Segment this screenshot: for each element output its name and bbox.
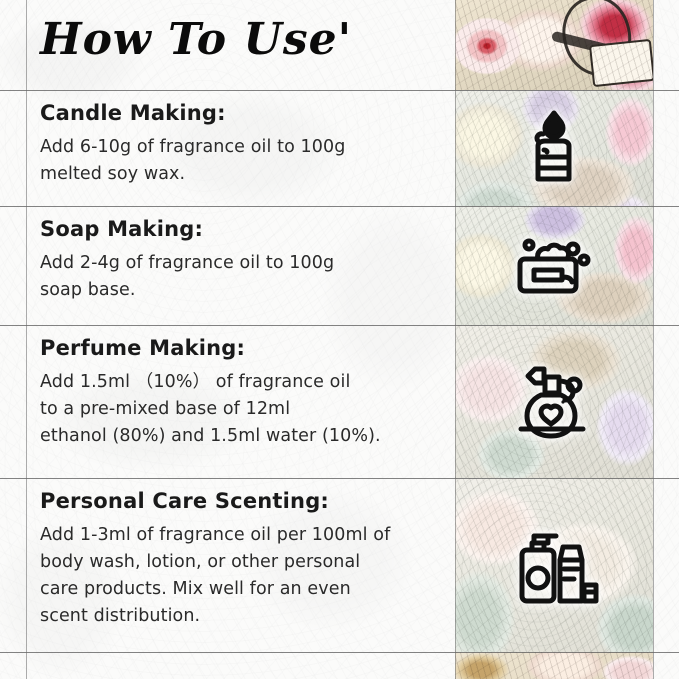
divider-rule <box>0 325 679 326</box>
candle-icon <box>455 90 653 206</box>
left-margin-rule <box>26 0 27 679</box>
section-heading: Soap Making: <box>40 217 430 241</box>
rose-illustration-bottom <box>455 652 653 679</box>
twine-strand-decoration <box>551 31 629 60</box>
section-body: Add 6-10g of fragrance oil to 100g melte… <box>40 134 430 188</box>
paper-tag-decoration <box>589 39 653 87</box>
divider-rule <box>0 206 679 207</box>
section-heading: Personal Care Scenting: <box>40 489 430 513</box>
section-body: Add 2-4g of fragrance oil to 100g soap b… <box>40 250 430 304</box>
illustration-cell-personal-care <box>455 478 653 652</box>
section-heading: Perfume Making: <box>40 336 430 360</box>
section-heading: Candle Making: <box>40 101 430 125</box>
section-perfume-making: Perfume Making: Add 1.5ml （10%） of fragr… <box>40 336 430 450</box>
divider-rule <box>0 478 679 479</box>
illustration-cell-candle <box>455 90 653 206</box>
right-margin-rule <box>653 0 654 679</box>
section-soap-making: Soap Making: Add 2-4g of fragrance oil t… <box>40 217 430 304</box>
illustration-column <box>455 0 653 679</box>
illustration-cell-perfume <box>455 325 653 478</box>
section-body: Add 1.5ml （10%） of fragrance oil to a pr… <box>40 369 430 450</box>
soap-bar-icon <box>455 206 653 325</box>
how-to-use-infographic: How To Use' Candle Making: Add 6-10g of … <box>0 0 679 679</box>
personal-care-products-icon <box>455 478 653 652</box>
perfume-bottle-icon <box>455 325 653 478</box>
page-title: How To Use' <box>40 14 352 65</box>
column-divider-rule <box>455 0 456 679</box>
illustration-cell-soap <box>455 206 653 325</box>
section-personal-care-scenting: Personal Care Scenting: Add 1-3ml of fra… <box>40 489 430 631</box>
twine-loop-decoration <box>552 0 641 85</box>
section-candle-making: Candle Making: Add 6-10g of fragrance oi… <box>40 101 430 188</box>
divider-rule <box>0 90 679 91</box>
rose-illustration-top <box>455 0 653 90</box>
section-body: Add 1-3ml of fragrance oil per 100ml of … <box>40 522 430 631</box>
divider-rule <box>0 652 679 653</box>
